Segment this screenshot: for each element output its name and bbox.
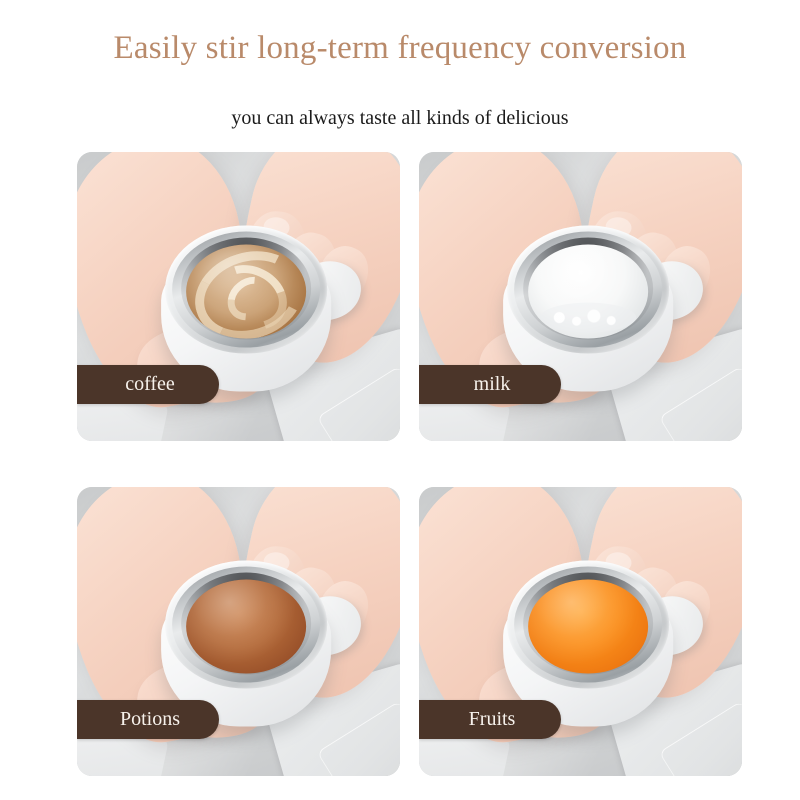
page-subtitle: you can always taste all kinds of delici… (0, 104, 800, 132)
page-title: Easily stir long-term frequency conversi… (0, 26, 800, 70)
liquid-gloss (186, 579, 306, 673)
beverage-milk (528, 244, 648, 338)
gallery-panel-fruits[interactable]: Fruits (419, 487, 742, 776)
beverage-potions (186, 579, 306, 673)
panel-label-potions: Potions (77, 700, 219, 739)
liquid-gloss (186, 244, 306, 338)
product-banner: Easily stir long-term frequency conversi… (0, 0, 800, 800)
beverage-fruits (528, 579, 648, 673)
gallery-panel-coffee[interactable]: coffee (77, 152, 400, 441)
panel-label-coffee: coffee (77, 365, 219, 404)
panel-label-fruits: Fruits (419, 700, 561, 739)
liquid-gloss (528, 579, 648, 673)
gallery-panel-potions[interactable]: Potions (77, 487, 400, 776)
beverage-coffee (186, 244, 306, 338)
gallery-panel-milk[interactable]: milk (419, 152, 742, 441)
liquid-gloss (528, 244, 648, 338)
photo-gallery-grid: coffee (77, 152, 742, 776)
panel-label-milk: milk (419, 365, 561, 404)
